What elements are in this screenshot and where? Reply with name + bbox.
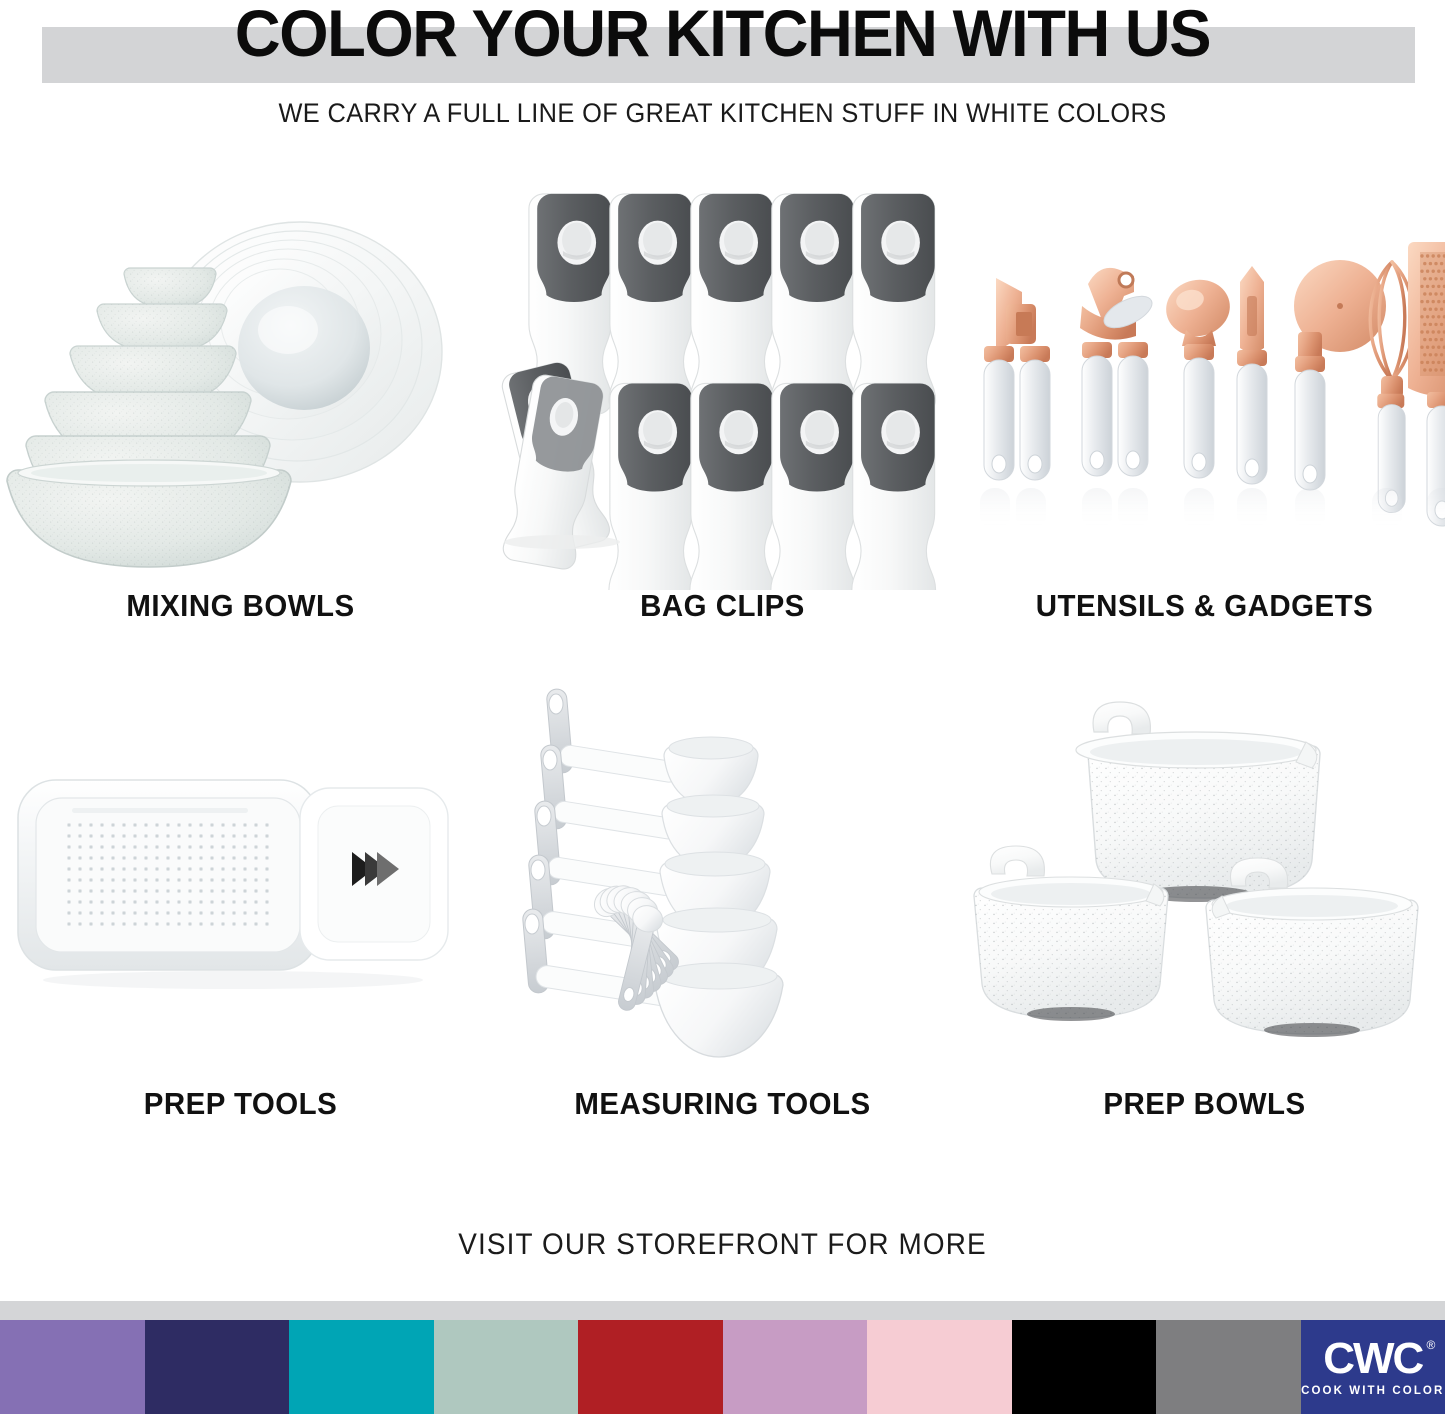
swatch-teal [289, 1320, 434, 1414]
category-label: PREP TOOLS [12, 1086, 469, 1122]
prep-tools-image [0, 668, 481, 1088]
logo-mark-text: CWC [1323, 1334, 1422, 1383]
color-strip-top-band [0, 1301, 1445, 1320]
swatch-orchid [723, 1320, 868, 1414]
category-label: PREP BOWLS [976, 1086, 1433, 1122]
category-card-bag-clips[interactable]: BAG CLIPS [482, 170, 963, 660]
swatch-purple [0, 1320, 145, 1414]
mixing-bowls-image [0, 170, 481, 590]
utensils-gadgets-image [964, 170, 1445, 590]
logo-tagline: COOK WITH COLOR [1301, 1386, 1444, 1398]
prep-bowls-image [964, 668, 1445, 1088]
category-card-utensils-gadgets[interactable]: UTENSILS & GADGETS [964, 170, 1445, 660]
measuring-tools-image [482, 668, 963, 1088]
category-label: MIXING BOWLS [12, 588, 469, 624]
category-card-measuring-tools[interactable]: MEASURING TOOLS [482, 668, 963, 1158]
bag-clips-image [482, 170, 963, 590]
category-label: BAG CLIPS [494, 588, 951, 624]
swatch-gray [1156, 1320, 1301, 1414]
category-label: UTENSILS & GADGETS [976, 588, 1433, 624]
registered-trademark-icon: ® [1426, 1339, 1435, 1351]
brand-logo[interactable]: CWC ® COOK WITH COLOR [1301, 1320, 1445, 1414]
category-label: MEASURING TOOLS [494, 1086, 951, 1122]
swatch-sage [434, 1320, 579, 1414]
page-subtitle: WE CARRY A FULL LINE OF GREAT KITCHEN ST… [43, 98, 1401, 129]
storefront-text: VISIT OUR STOREFRONT FOR MORE [51, 1228, 1395, 1262]
logo-mark: CWC ® [1323, 1337, 1422, 1381]
color-swatch-strip: CWC ® COOK WITH COLOR [0, 1320, 1445, 1414]
swatch-black [1012, 1320, 1157, 1414]
category-card-mixing-bowls[interactable]: MIXING BOWLS [0, 170, 481, 660]
category-grid: MIXING BOWLS [0, 170, 1445, 1190]
page-title: COLOR YOUR KITCHEN WITH US [29, 0, 1416, 70]
swatch-crimson [578, 1320, 723, 1414]
header: COLOR YOUR KITCHEN WITH US WE CARRY A FU… [0, 0, 1445, 150]
swatch-navy [145, 1320, 290, 1414]
swatch-blush-pink [867, 1320, 1012, 1414]
category-card-prep-tools[interactable]: PREP TOOLS [0, 668, 481, 1158]
category-card-prep-bowls[interactable]: PREP BOWLS [964, 668, 1445, 1158]
